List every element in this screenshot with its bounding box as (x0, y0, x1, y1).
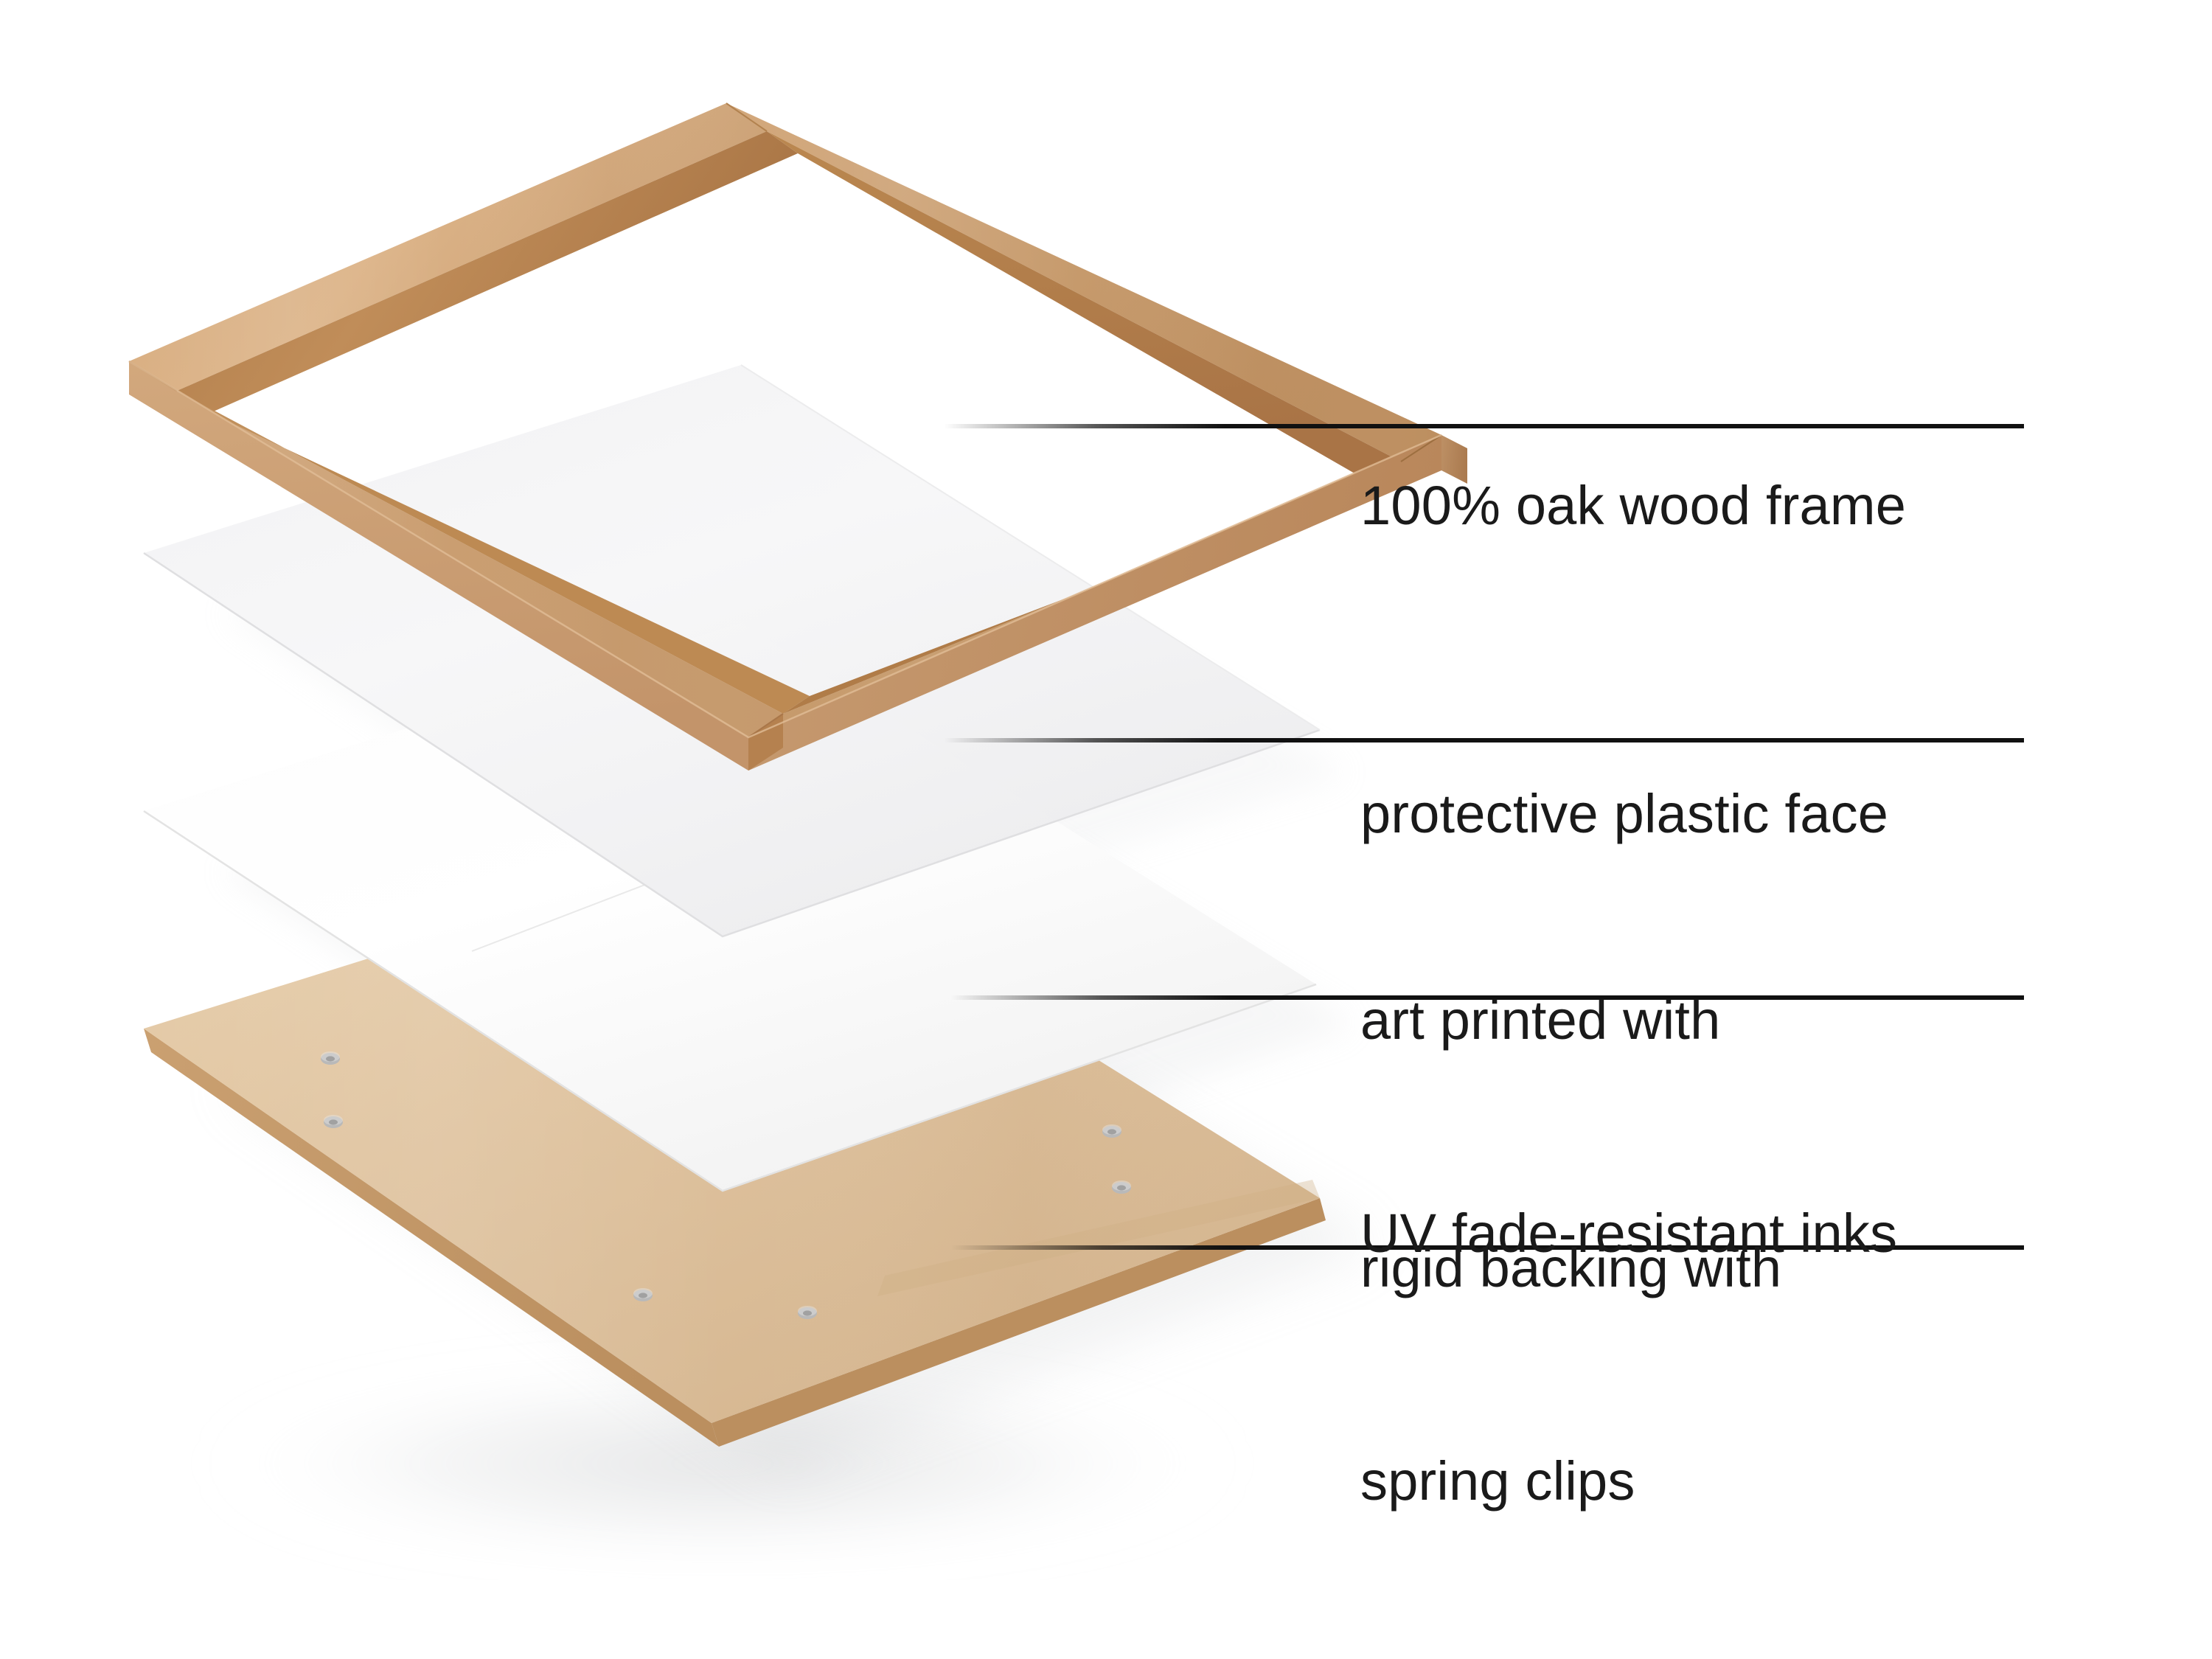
frame-rabbet-top-left (177, 131, 798, 413)
spring-clip (324, 1115, 343, 1128)
spring-clip (633, 1288, 653, 1301)
callout-label-rigid-backing: rigid backing with spring clips (1360, 1091, 1781, 1659)
frame-grain-top-left (129, 103, 767, 391)
frame-grain-top-right (726, 103, 1441, 462)
spring-clip (321, 1051, 340, 1065)
callout-line: protective plastic face (1360, 779, 1888, 849)
callout-label-oak-frame: 100% oak wood frame (1360, 329, 1906, 684)
spring-clip (798, 1306, 817, 1319)
callout-line: spring clips (1360, 1446, 1781, 1517)
callout-line: rigid backing with (1360, 1233, 1781, 1304)
spring-clip (1102, 1124, 1121, 1138)
spring-clip (1112, 1180, 1131, 1194)
frame-rabbet-top-right (767, 131, 1401, 482)
exploded-frame-diagram: 100% oak wood frame protective plastic f… (0, 0, 2212, 1580)
callout-line: 100% oak wood frame (1360, 470, 1906, 541)
callout-line: art printed with (1360, 985, 1897, 1056)
